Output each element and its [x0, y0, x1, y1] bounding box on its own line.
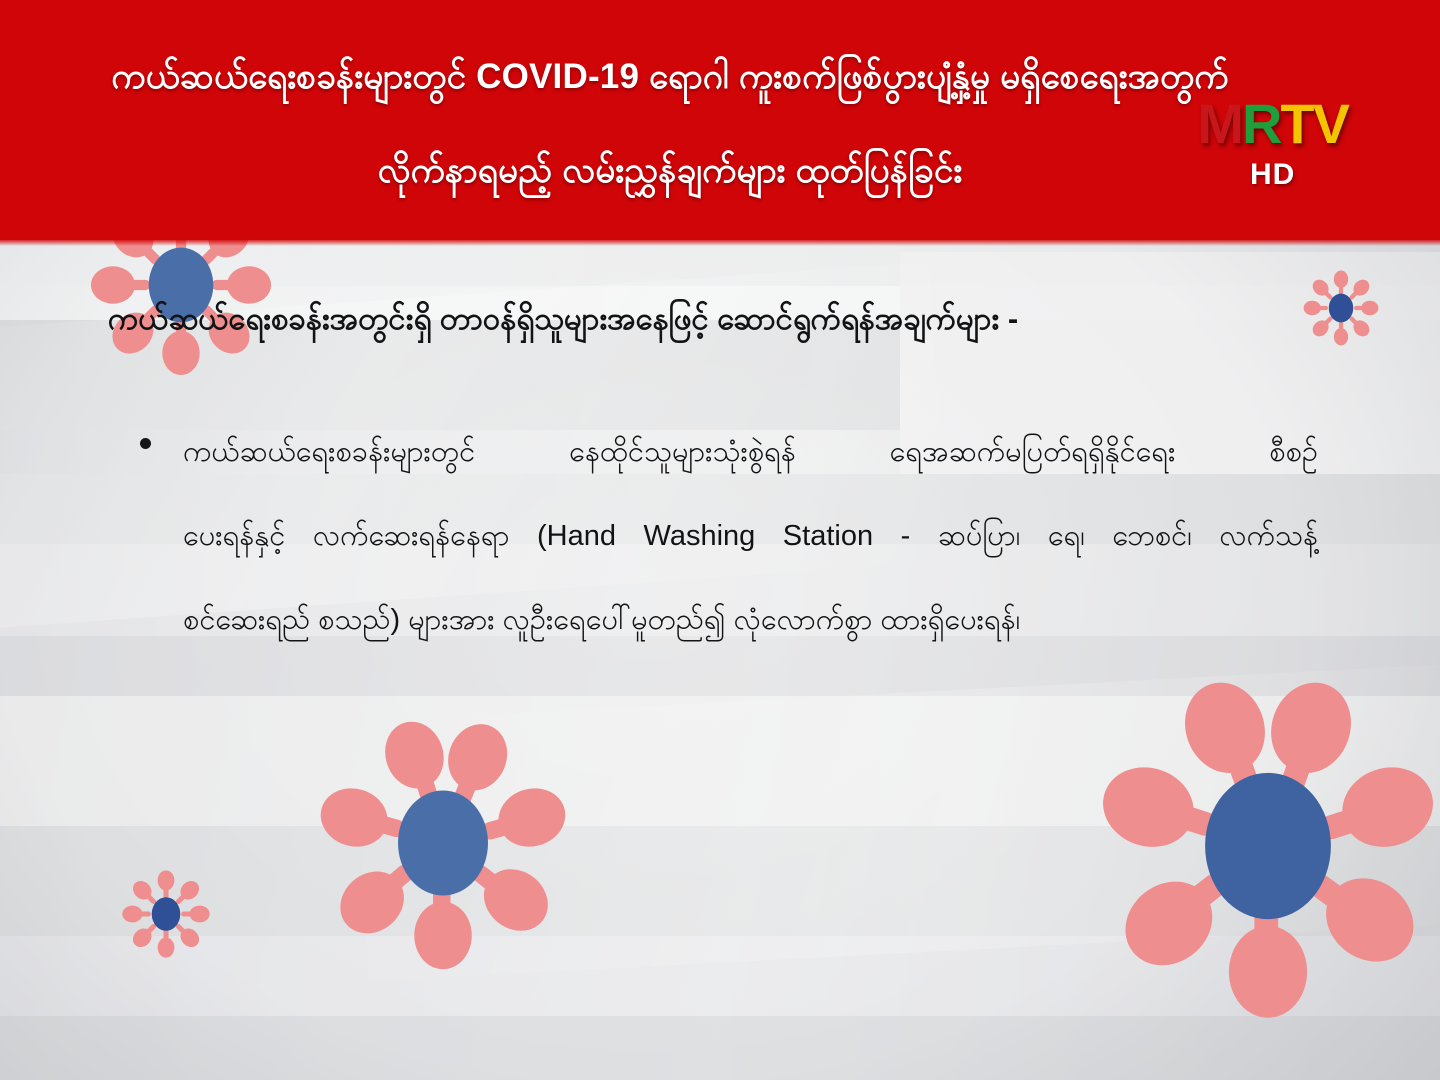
slide-canvas: ကယ်ဆယ်ရေးစခန်းများတွင် COVID-19 ရောဂါ ကူ…: [0, 0, 1440, 1080]
logo-letter-r: R: [1242, 92, 1280, 155]
mrtv-logo: MRTV HD: [1197, 96, 1348, 192]
bullet-line: ပေးရန်နှင့် လက်ဆေးရန်နေရာ (Hand Washing …: [183, 494, 1318, 578]
section-heading: ကယ်ဆယ်ရေးစခန်းအတွင်းရှိ တာဝန်ရှိသူများအန…: [108, 300, 1308, 339]
bullet-item: ကယ်ဆယ်ရေးစခန်းများတွင် နေထိုင်သူများသုံး…: [108, 410, 1318, 662]
logo-letter-v: V: [1313, 92, 1348, 155]
header-banner: ကယ်ဆယ်ရေးစခန်းများတွင် COVID-19 ရောဂါ ကူ…: [0, 0, 1440, 240]
bullet-line: ကယ်ဆယ်ရေးစခန်းများတွင် နေထိုင်သူများသုံး…: [183, 410, 1318, 494]
bullet-text-block: ကယ်ဆယ်ရေးစခန်းများတွင် နေထိုင်သူများသုံး…: [183, 410, 1318, 662]
logo-letter-t: T: [1280, 92, 1312, 155]
bullet-dot-icon: [140, 438, 151, 449]
slide-content: ကယ်ဆယ်ရေးစခန်းအတွင်းရှိ တာဝန်ရှိသူများအန…: [0, 240, 1440, 1080]
bullet-line: စင်ဆေးရည် စသည်) များအား လူဦးရေပေါ်မူတည်၍…: [183, 578, 1318, 662]
header-title: ကယ်ဆယ်ရေးစခန်းများတွင် COVID-19 ရောဂါ ကူ…: [60, 30, 1280, 218]
logo-hd-badge: HD: [1197, 158, 1348, 192]
logo-letter-m: M: [1197, 92, 1242, 155]
logo-wordmark: MRTV: [1197, 96, 1348, 152]
